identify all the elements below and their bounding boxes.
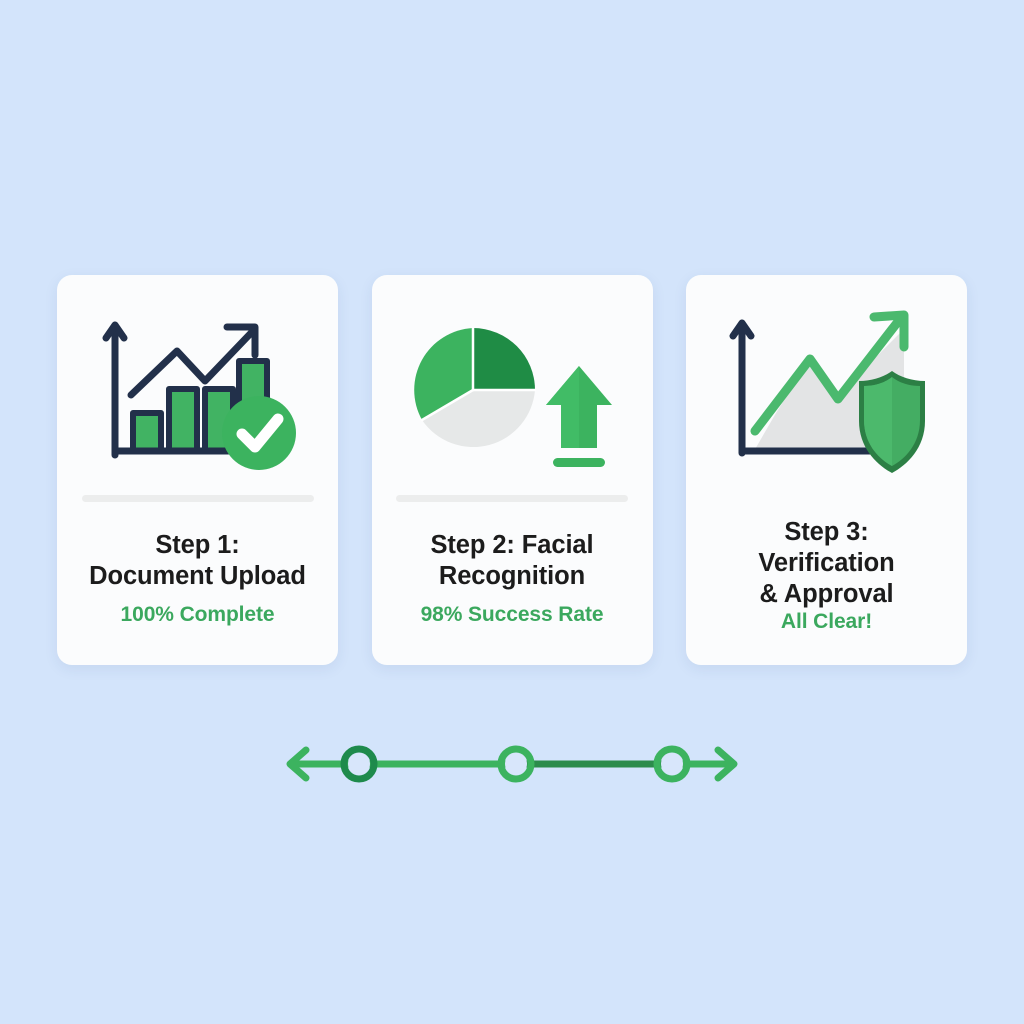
bar-chart-with-check-icon — [75, 297, 320, 487]
card-title-line: Recognition — [439, 562, 585, 590]
card-step-1[interactable]: Step 1: Document Upload 100% Complete — [57, 275, 338, 665]
area-chart-with-shield-icon — [704, 297, 949, 487]
card-title-line: Step 3: — [784, 518, 868, 546]
card-status: 98% Success Rate — [421, 603, 604, 627]
card-title-line: & Approval — [759, 580, 893, 608]
card-step-2[interactable]: Step 2: Facial Recognition 98% Success R… — [372, 275, 653, 665]
card-status: All Clear! — [781, 610, 872, 634]
card-title-line: Step 1: — [155, 531, 239, 559]
card-divider — [82, 495, 314, 502]
card-title: Step 3: Verification & Approval — [758, 517, 894, 610]
progress-timeline[interactable] — [280, 736, 744, 792]
card-status: 100% Complete — [121, 603, 275, 627]
card-divider — [396, 495, 628, 502]
card-title-line: Document Upload — [89, 562, 306, 590]
pie-chart-with-up-arrow-icon — [390, 297, 635, 487]
card-title: Step 1: Document Upload — [89, 530, 306, 592]
card-title-line: Verification — [758, 549, 894, 577]
steps-card-row: Step 1: Document Upload 100% Complete — [57, 275, 967, 665]
card-step-3[interactable]: Step 3: Verification & Approval All Clea… — [686, 275, 967, 665]
card-title-line: Step 2: Facial — [431, 531, 594, 559]
card-title: Step 2: Facial Recognition — [431, 530, 594, 592]
